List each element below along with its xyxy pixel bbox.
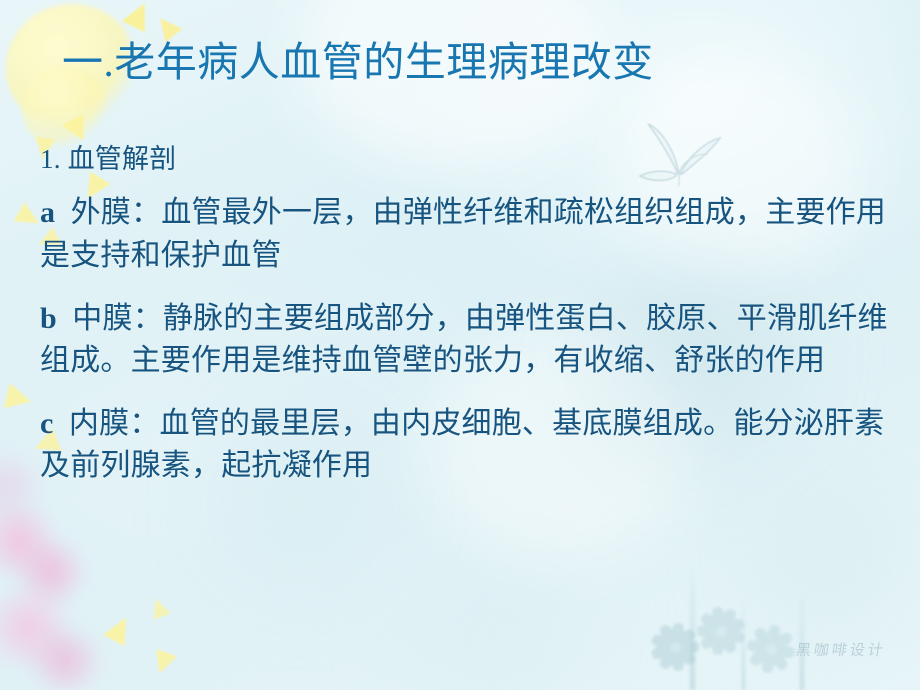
- list-item-marker: a: [40, 196, 55, 229]
- list-item-text: 内膜：血管的最里层，由内皮细胞、基底膜组成。能分泌肝素及前列腺素，起抗凝作用: [40, 407, 884, 483]
- slide-body: 1. 血管解剖 a 外膜：血管最外一层，由弹性纤维和疏松组织组成，主要作用是支持…: [40, 140, 892, 508]
- list-item: b 中膜：静脉的主要组成部分，由弹性蛋白、胶原、平滑肌纤维组成。主要作用是维持血…: [40, 298, 892, 383]
- designer-watermark: 黑咖啡设计: [794, 639, 887, 660]
- pink-flower-petal: [22, 630, 108, 690]
- presentation-slide: 一.老年病人血管的生理病理改变 1. 血管解剖 a 外膜：血管最外一层，由弹性纤…: [0, 0, 920, 690]
- daisy-flower-icon: [742, 620, 800, 678]
- slide-subtitle: 1. 血管解剖: [40, 140, 892, 178]
- list-item: c 内膜：血管的最里层，由内皮细胞、基底膜组成。能分泌肝素及前列腺素，起抗凝作用: [40, 403, 892, 488]
- list-item-text: 外膜：血管最外一层，由弹性纤维和疏松组织组成，主要作用是支持和保护血管: [40, 196, 886, 272]
- list-item-marker: b: [40, 302, 57, 335]
- list-item-text: 中膜：静脉的主要组成部分，由弹性蛋白、胶原、平滑肌纤维组成。主要作用是维持血管壁…: [40, 302, 888, 378]
- slide-title: 一.老年病人血管的生理病理改变: [62, 40, 654, 86]
- list-item: a 外膜：血管最外一层，由弹性纤维和疏松组织组成，主要作用是支持和保护血管: [40, 192, 892, 277]
- list-item-marker: c: [40, 407, 54, 440]
